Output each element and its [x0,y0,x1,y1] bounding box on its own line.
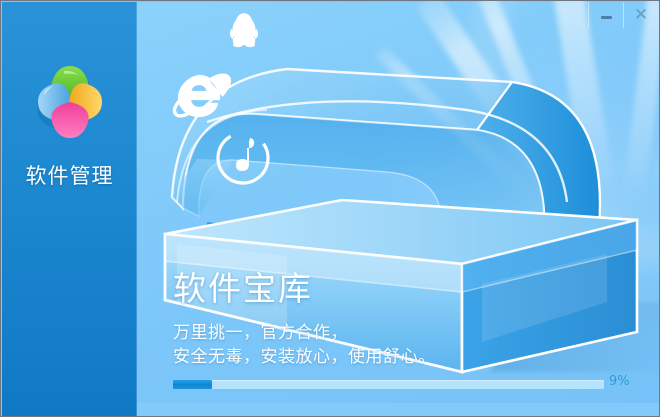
minimize-button[interactable] [589,2,623,28]
sidebar-title: 软件管理 [2,160,137,190]
software-manager-window: 软件管理 ✕ 软件宝库 万里挑一，官方合作， 安全无毒，安装放心，使用舒心。 9… [0,0,660,417]
promo-description: 万里挑一，官方合作， 安全无毒，安装放心，使用舒心。 [173,321,436,369]
sidebar: 软件管理 [2,2,137,417]
bottom-band [137,403,660,417]
minimize-icon [601,16,612,19]
four-petal-flower-logo [28,52,112,148]
progress-percent-label: 9% [609,374,630,389]
progress-bar-fill [173,380,212,389]
close-button[interactable]: ✕ [624,2,658,28]
promo-line-1: 万里挑一，官方合作， [173,321,436,345]
progress-bar [173,380,604,389]
pink-petal [51,102,88,138]
sidebar-edge [136,2,137,417]
window-controls: ✕ [588,2,658,28]
promo-line-2: 安全无毒，安装放心，使用舒心。 [173,345,436,369]
promo-title: 软件宝库 [173,262,313,310]
close-icon: ✕ [634,7,648,24]
